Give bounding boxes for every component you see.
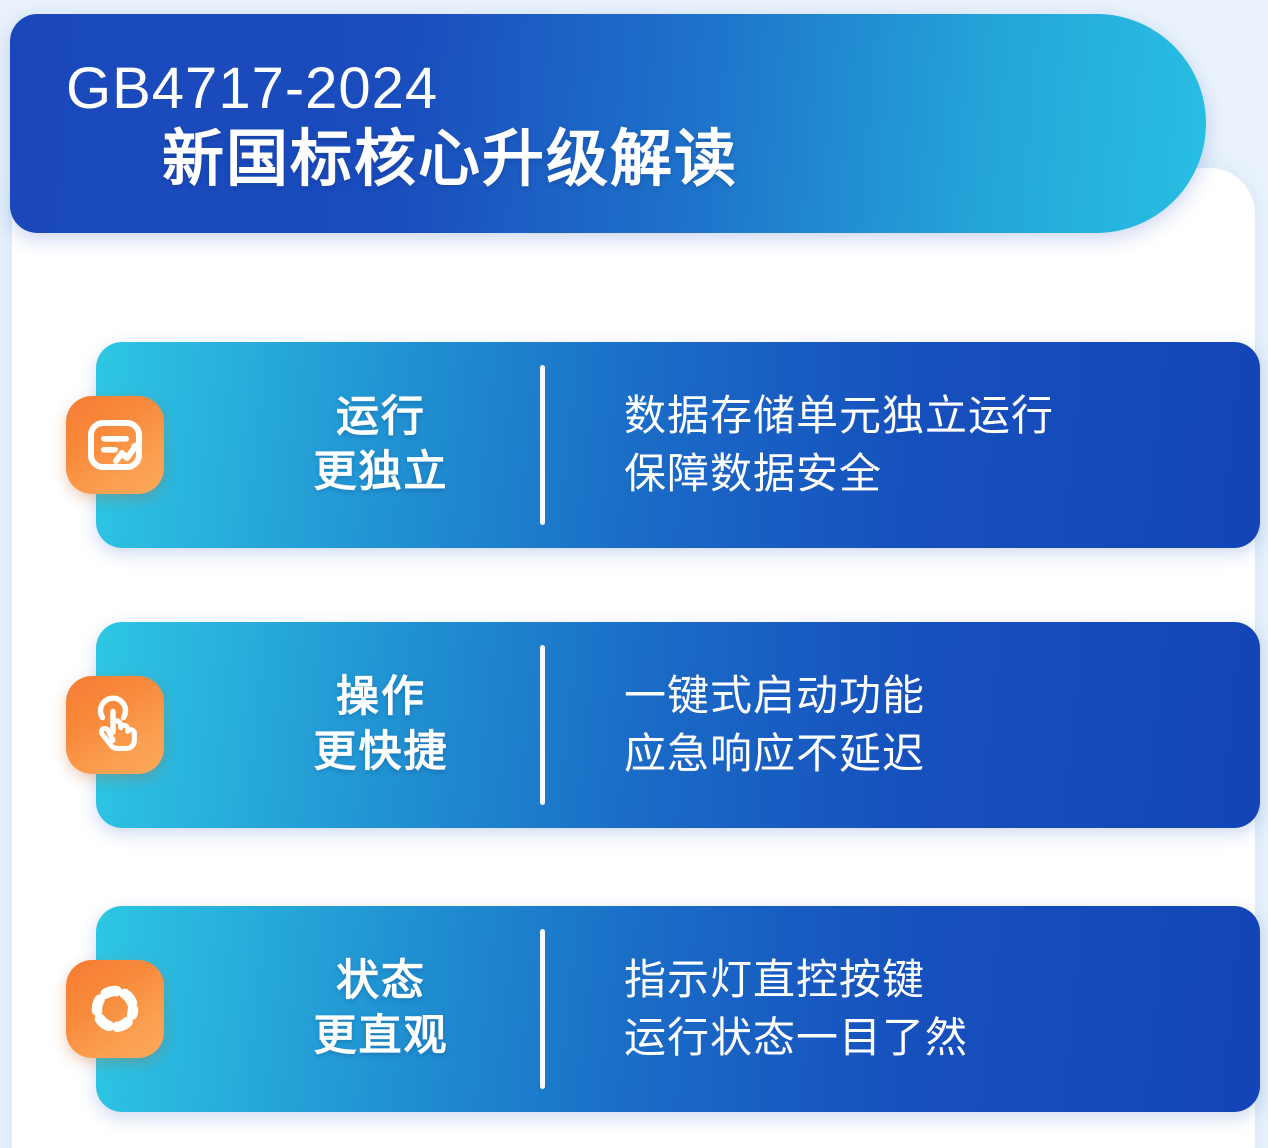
card-keyword-line-1: 运行	[246, 390, 516, 445]
page-title: 新国标核心升级解读	[162, 125, 1116, 194]
document-chart-icon	[66, 396, 164, 494]
card-keyword-line-2: 更直观	[246, 1009, 516, 1064]
card-divider	[540, 365, 545, 525]
card-keyword-line-1: 状态	[246, 954, 516, 1009]
card-description: 指示灯直控按键 运行状态一目了然	[624, 951, 968, 1067]
header-text-group: GB4717-2024 新国标核心升级解读	[66, 58, 1116, 194]
card-desc-line-2: 应急响应不延迟	[624, 725, 925, 783]
card-desc-line-1: 指示灯直控按键	[624, 951, 968, 1009]
card-keyword: 操作 更快捷	[246, 670, 516, 780]
card-desc-line-2: 运行状态一目了然	[624, 1009, 968, 1067]
card-keyword-line-2: 更独立	[246, 445, 516, 500]
card-desc-line-1: 数据存储单元独立运行	[624, 387, 1054, 445]
feature-card[interactable]: 状态 更直观 指示灯直控按键 运行状态一目了然	[96, 906, 1260, 1112]
tap-hand-icon	[66, 676, 164, 774]
infographic-poster: GB4717-2024 新国标核心升级解读 运行 更独立	[0, 0, 1268, 1148]
card-keyword-line-1: 操作	[246, 670, 516, 725]
card-description: 一键式启动功能 应急响应不延迟	[624, 667, 925, 783]
header-band: GB4717-2024 新国标核心升级解读	[10, 14, 1206, 233]
card-keyword-line-2: 更快捷	[246, 725, 516, 780]
card-desc-line-2: 保障数据安全	[624, 445, 1054, 503]
card-desc-line-1: 一键式启动功能	[624, 667, 925, 725]
card-keyword: 状态 更直观	[246, 954, 516, 1064]
card-description: 数据存储单元独立运行 保障数据安全	[624, 387, 1054, 503]
standard-code: GB4717-2024	[66, 58, 1116, 121]
lifebuoy-status-icon	[66, 960, 164, 1058]
feature-card[interactable]: 运行 更独立 数据存储单元独立运行 保障数据安全	[96, 342, 1260, 548]
feature-card[interactable]: 操作 更快捷 一键式启动功能 应急响应不延迟	[96, 622, 1260, 828]
card-divider	[540, 645, 545, 805]
card-divider	[540, 929, 545, 1089]
card-keyword: 运行 更独立	[246, 390, 516, 500]
